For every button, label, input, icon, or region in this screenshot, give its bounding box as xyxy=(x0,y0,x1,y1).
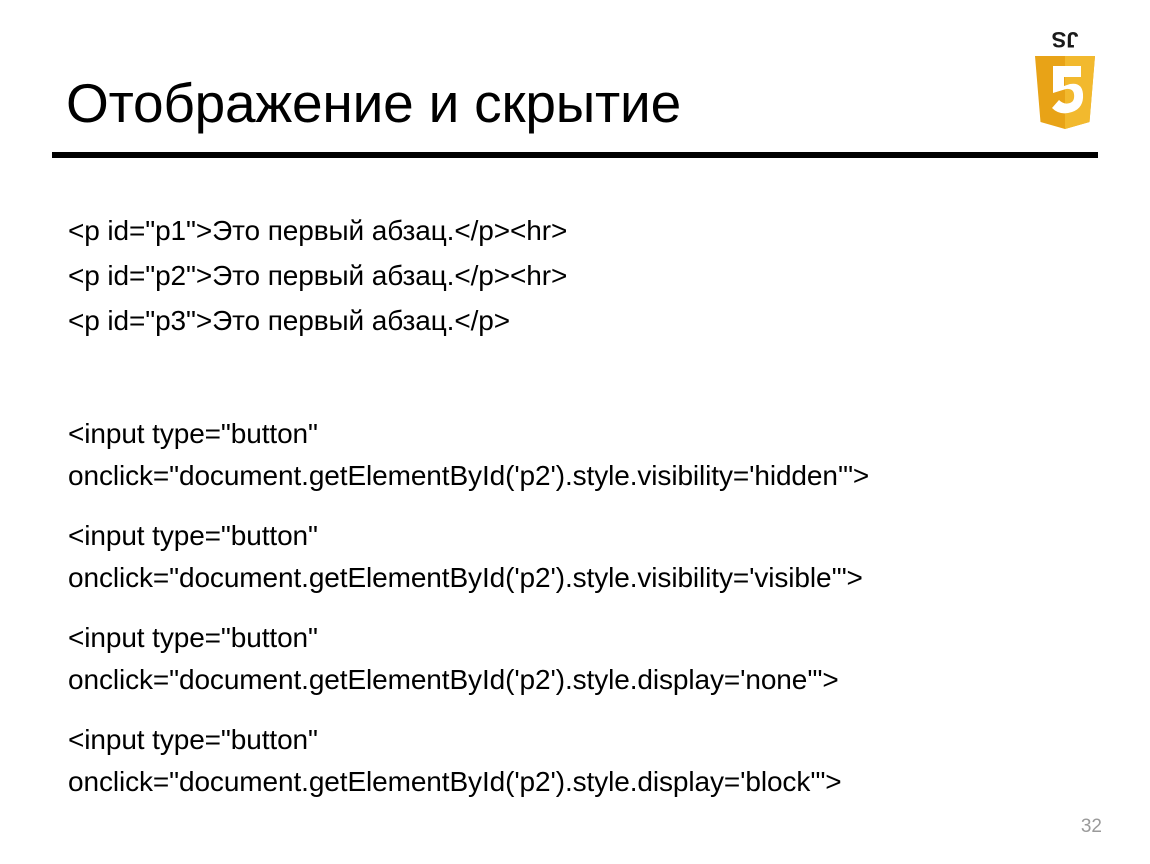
presentation-slide: Отображение и скрытие JS <p id="p1">Это … xyxy=(0,0,1150,864)
code-line: onclick="document.getElementById('p2').s… xyxy=(68,557,1118,599)
code-line: <input type="button" xyxy=(68,719,1118,761)
input-button-block-visibility-visible: <input type="button" onclick="document.g… xyxy=(68,515,1118,599)
javascript-logo: JS xyxy=(1029,22,1101,130)
vertical-spacer xyxy=(68,343,1118,413)
svg-text:JS: JS xyxy=(1052,27,1079,52)
code-line: onclick="document.getElementById('p2').s… xyxy=(68,659,1118,701)
code-line: <p id="p3">Это первый абзац.</p> xyxy=(68,298,1118,343)
code-line: <input type="button" xyxy=(68,617,1118,659)
code-line: <input type="button" xyxy=(68,515,1118,557)
code-line: onclick="document.getElementById('p2').s… xyxy=(68,761,1118,803)
page-title: Отображение и скрытие xyxy=(66,75,681,133)
title-block: Отображение и скрытие xyxy=(66,64,966,144)
input-button-block-display-block: <input type="button" onclick="document.g… xyxy=(68,719,1118,803)
code-line: <input type="button" xyxy=(68,413,1118,455)
input-button-block-visibility-hidden: <input type="button" onclick="document.g… xyxy=(68,413,1118,497)
code-line: <p id="p1">Это первый абзац.</p><hr> xyxy=(68,208,1118,253)
input-button-block-display-none: <input type="button" onclick="document.g… xyxy=(68,617,1118,701)
slide-number: 32 xyxy=(1081,816,1102,838)
title-divider xyxy=(52,152,1098,158)
code-line: <p id="p2">Это первый абзац.</p><hr> xyxy=(68,253,1118,298)
code-line: onclick="document.getElementById('p2').s… xyxy=(68,455,1118,497)
slide-body: <p id="p1">Это первый абзац.</p><hr> <p … xyxy=(68,208,1118,821)
markup-code-block: <p id="p1">Это первый абзац.</p><hr> <p … xyxy=(68,208,1118,343)
